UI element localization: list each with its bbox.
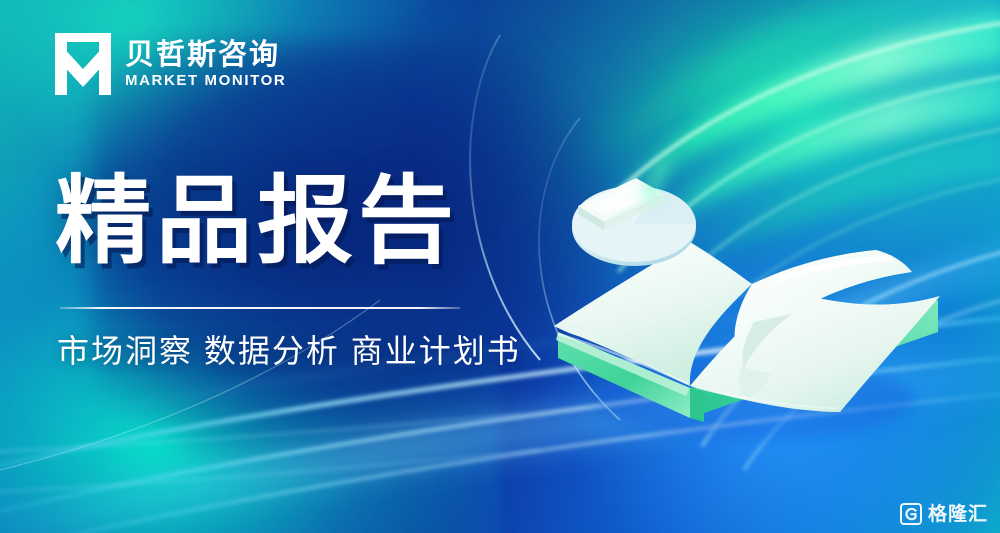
gelonghui-g-logo-icon: [900, 503, 922, 525]
brand-logo: 贝哲斯咨询 MARKET MONITOR: [55, 33, 286, 95]
page-title: 精品报告: [55, 172, 459, 273]
watermark: 格隆汇: [900, 503, 988, 525]
report-banner: 贝哲斯咨询 MARKET MONITOR 精品报告 市场洞察 数据分析 商业计划…: [0, 0, 1000, 533]
pie-chart-disc-icon: [572, 178, 696, 266]
book-illustration-icon: [540, 150, 960, 450]
page-subtitle: 市场洞察 数据分析 商业计划书: [57, 331, 521, 371]
title-divider: [60, 307, 460, 309]
brand-name-cn: 贝哲斯咨询: [125, 41, 286, 70]
brand-name-en: MARKET MONITOR: [125, 73, 286, 88]
watermark-text: 格隆汇: [928, 505, 988, 524]
market-monitor-m-logo-icon: [55, 33, 111, 95]
open-book-with-pie-chart-illustration: [540, 150, 960, 450]
brand-logo-text: 贝哲斯咨询 MARKET MONITOR: [125, 41, 286, 88]
